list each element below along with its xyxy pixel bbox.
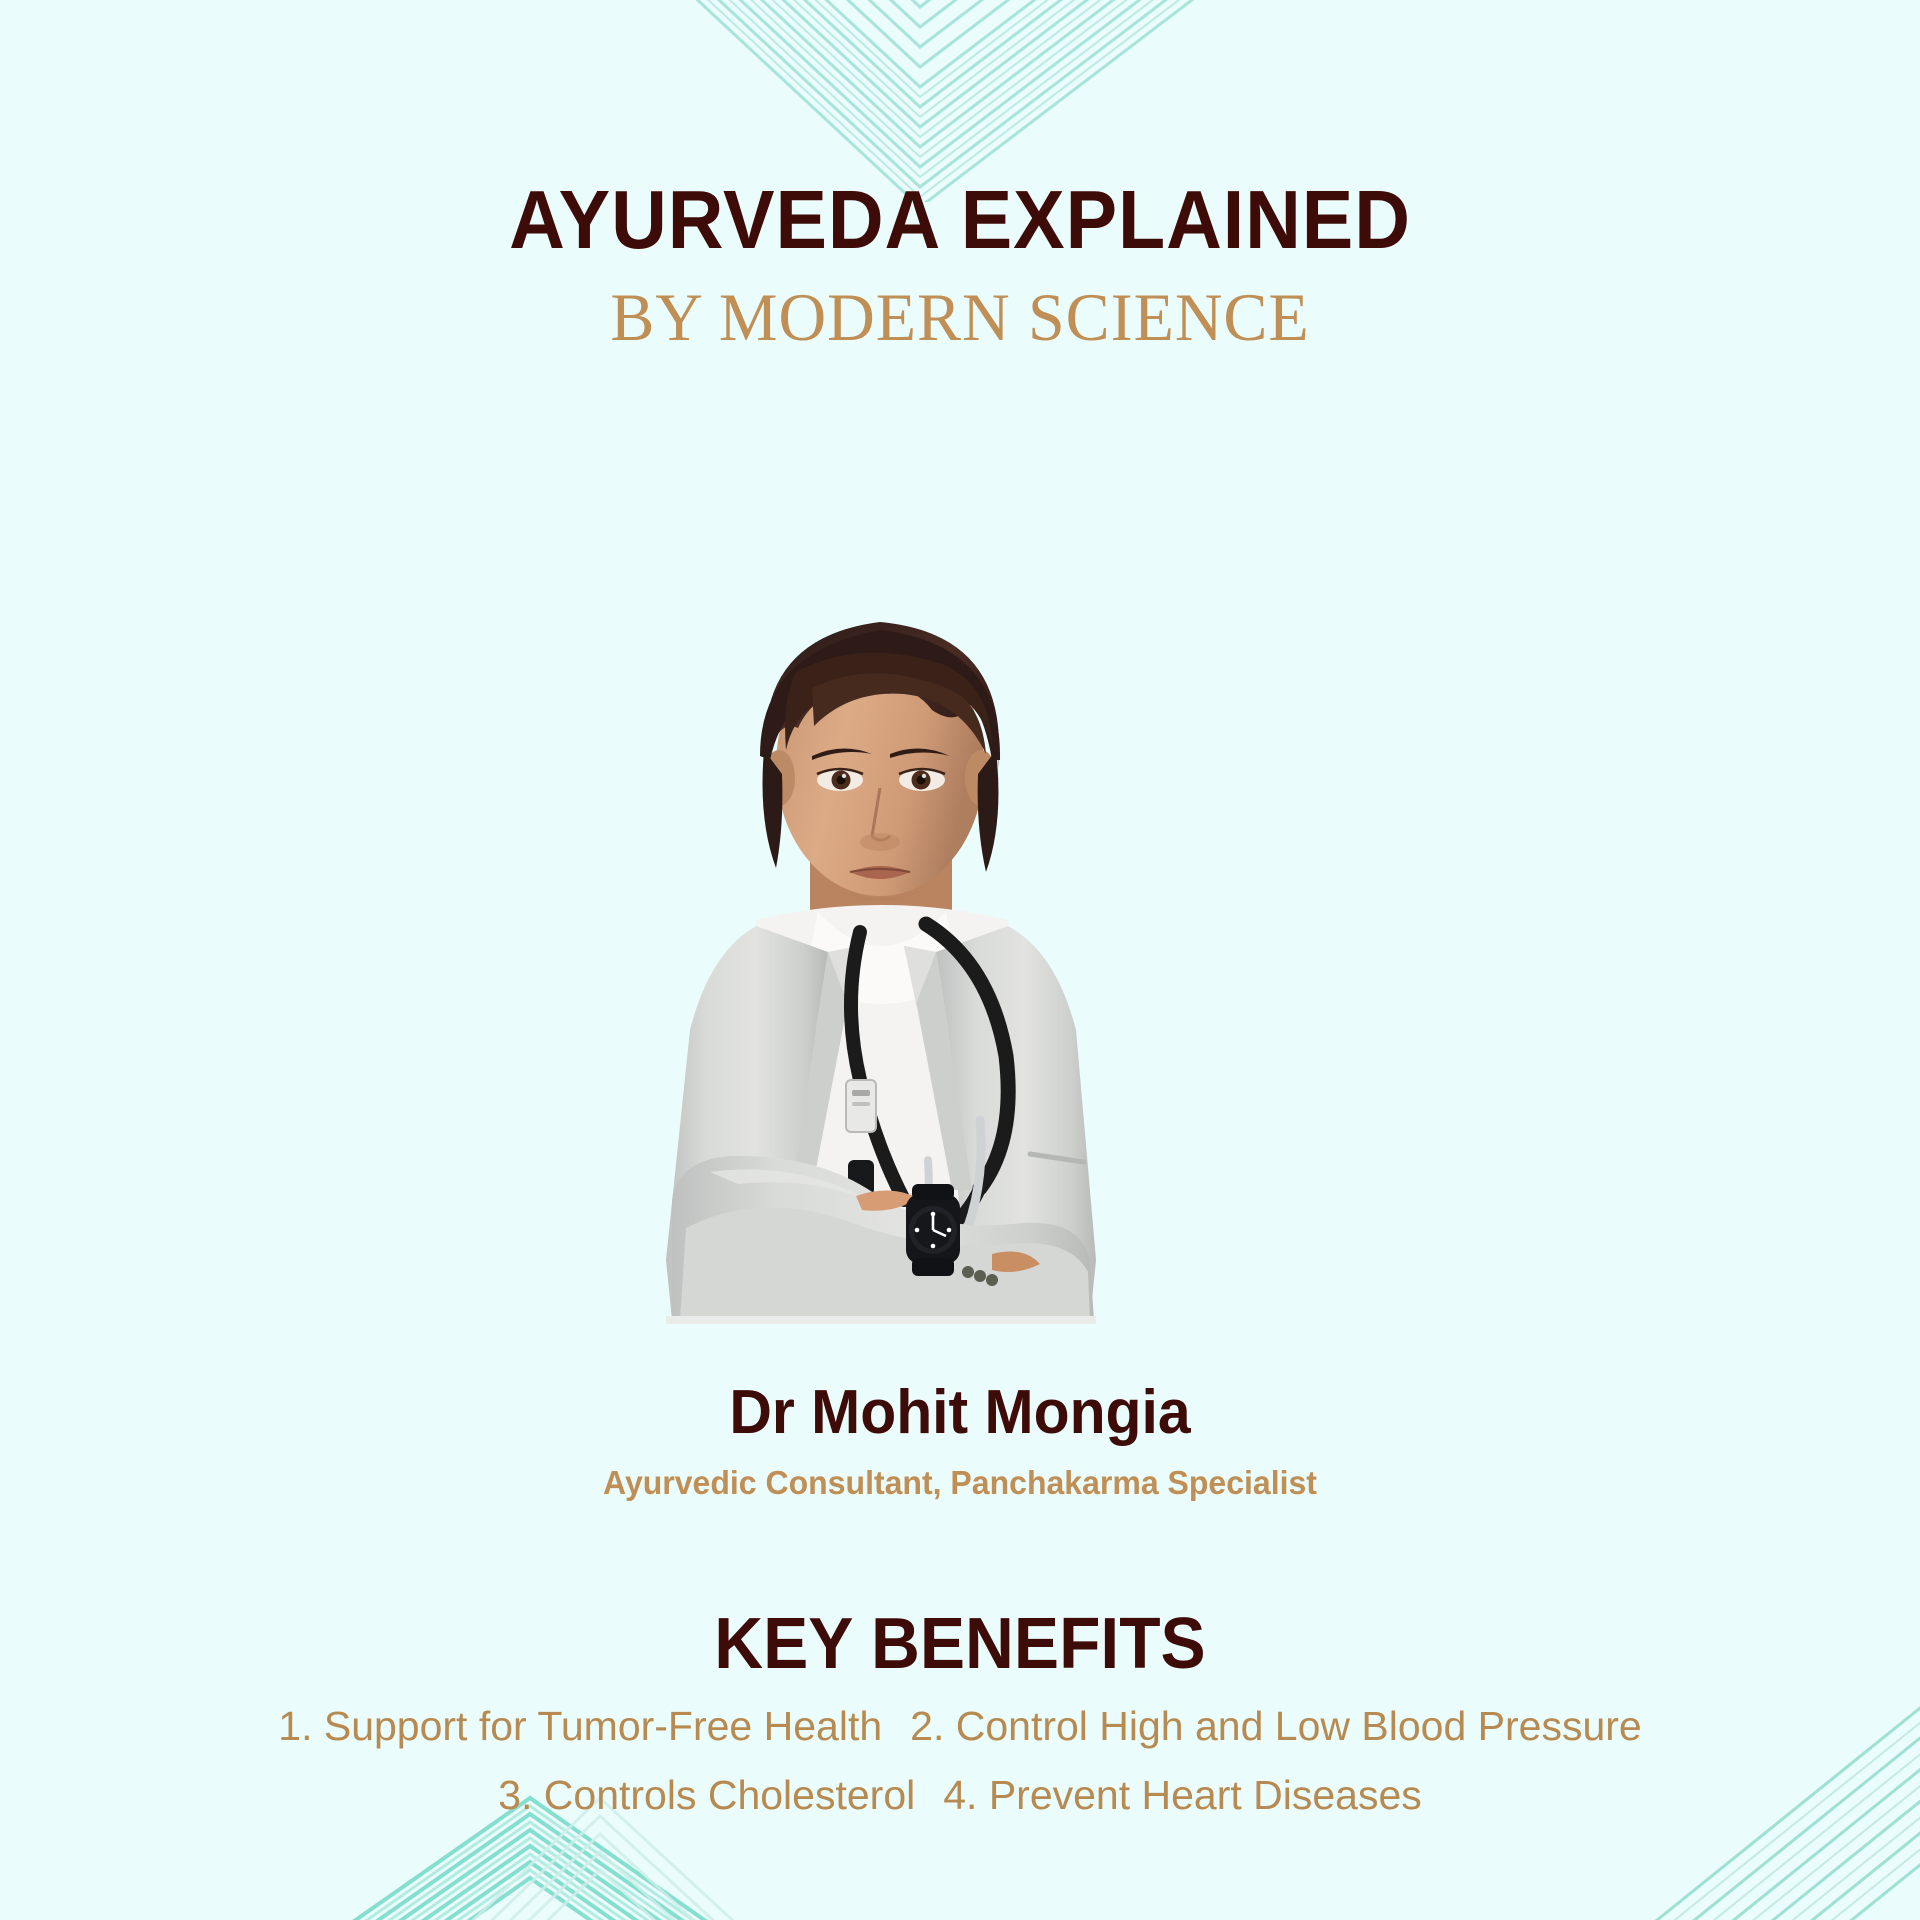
benefit-item-4: 4. Prevent Heart Diseases	[943, 1775, 1422, 1816]
poster-canvas: AYURVEDA EXPLAINED BY MODERN SCIENCE	[0, 0, 1920, 1920]
doctor-name: Dr Mohit Mongia	[48, 1382, 1872, 1444]
chevron-down-decoration-icon	[600, 0, 1360, 202]
doctor-credentials: Ayurvedic Consultant, Panchakarma Specia…	[29, 1466, 1891, 1499]
doctor-portrait-image	[560, 560, 1200, 1380]
benefits-row: 3. Controls Cholesterol 4. Prevent Heart…	[0, 1775, 1920, 1816]
benefits-heading: KEY BENEFITS	[58, 1608, 1863, 1680]
page-title: AYURVEDA EXPLAINED	[67, 178, 1853, 261]
profile-block: Dr Mohit Mongia Ayurvedic Consultant, Pa…	[0, 1382, 1920, 1499]
benefits-block: KEY BENEFITS 1. Support for Tumor-Free H…	[0, 1608, 1920, 1816]
page-subtitle: BY MODERN SCIENCE	[29, 283, 1891, 351]
benefit-item-2: 2. Control High and Low Blood Pressure	[910, 1706, 1642, 1747]
benefit-item-1: 1. Support for Tumor-Free Health	[278, 1706, 882, 1747]
benefit-item-3: 3. Controls Cholesterol	[498, 1775, 915, 1816]
benefits-row: 1. Support for Tumor-Free Health 2. Cont…	[0, 1706, 1920, 1747]
header-block: AYURVEDA EXPLAINED BY MODERN SCIENCE	[0, 178, 1920, 351]
